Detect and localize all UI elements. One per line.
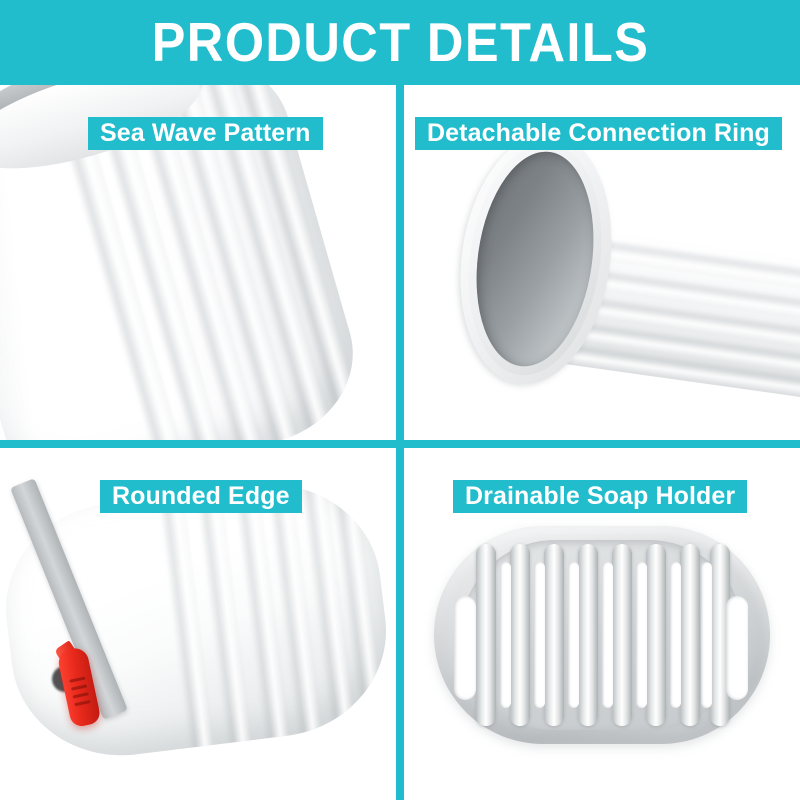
panel-grid: Sea Wave Pattern Detachable Connection R… (0, 85, 800, 800)
drain-slots (460, 540, 744, 730)
tray-handle-right (726, 596, 748, 700)
caption-badge-detachable-connection-ring: Detachable Connection Ring (415, 117, 782, 150)
header-banner: PRODUCT DETAILS (0, 0, 800, 85)
caption-badge-rounded-edge: Rounded Edge (100, 480, 302, 513)
panel-sea-wave-pattern: Sea Wave Pattern (0, 85, 396, 440)
tray-handle-left (454, 596, 476, 700)
product-details-infographic: PRODUCT DETAILS Sea Wave Pattern (0, 0, 800, 800)
horizontal-divider (0, 440, 800, 448)
caption-badge-sea-wave-pattern: Sea Wave Pattern (88, 117, 323, 150)
page-title: PRODUCT DETAILS (151, 15, 649, 70)
panel-detachable-connection-ring: Detachable Connection Ring (404, 85, 800, 440)
panel-drainable-soap-holder: Drainable Soap Holder (404, 448, 800, 800)
panel-rounded-edge: Rounded Edge (0, 448, 396, 800)
caption-badge-drainable-soap-holder: Drainable Soap Holder (453, 480, 747, 513)
wave-grooves (0, 472, 396, 768)
